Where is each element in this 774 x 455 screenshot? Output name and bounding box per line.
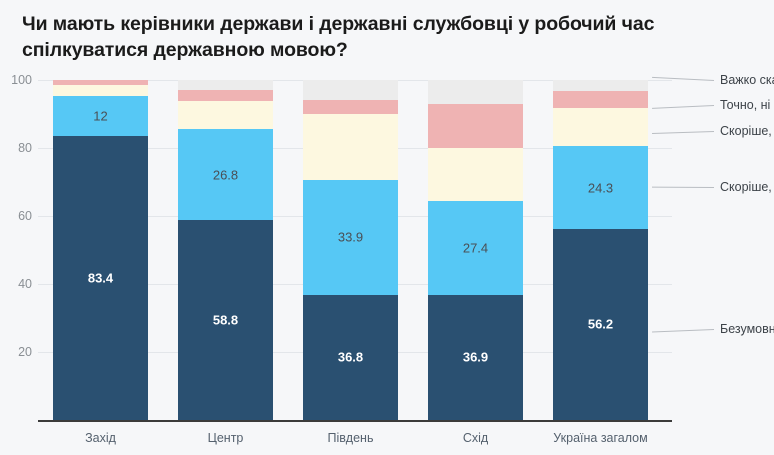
y-tick-label: 80	[0, 141, 32, 155]
x-axis-line	[38, 420, 672, 422]
y-tick-label: 40	[0, 277, 32, 291]
bar-segment[interactable]	[53, 96, 148, 137]
bar-segment[interactable]	[303, 100, 398, 114]
bar-group[interactable]: 36.833.9	[303, 80, 398, 420]
bar-group[interactable]: 83.412	[53, 80, 148, 420]
y-tick-label: 100	[0, 73, 32, 87]
legend-item-label[interactable]: Скоріше, так	[720, 180, 774, 194]
page-title: Чи мають керівники держави і державні сл…	[22, 11, 752, 63]
bar-segment[interactable]	[553, 80, 648, 91]
y-axis: 20406080100	[0, 80, 32, 420]
bar-group[interactable]: 58.826.8	[178, 80, 273, 420]
bar-segment[interactable]	[178, 101, 273, 129]
x-tick-label: Захід	[31, 431, 171, 445]
bar-segment[interactable]	[428, 148, 523, 201]
bar-segment[interactable]	[553, 146, 648, 229]
x-tick-label: Схід	[406, 431, 546, 445]
bar-segment[interactable]	[53, 136, 148, 420]
y-tick-label: 20	[0, 345, 32, 359]
bar-segment[interactable]	[303, 80, 398, 100]
bar-segment[interactable]	[428, 295, 523, 420]
legend-item-label[interactable]: Важко сказати	[720, 73, 774, 87]
bar-group[interactable]: 36.927.4	[428, 80, 523, 420]
bar-segment[interactable]	[428, 80, 523, 104]
plot-area: 83.41258.826.836.833.936.927.456.224.3	[38, 80, 672, 420]
bar-segment[interactable]	[53, 80, 148, 85]
x-tick-label: Україна загалом	[531, 431, 671, 445]
stacked-bar-chart: Чи мають керівники держави і державні сл…	[0, 0, 774, 455]
bar-segment[interactable]	[553, 108, 648, 146]
bar-segment[interactable]	[428, 104, 523, 148]
bar-segment[interactable]	[553, 91, 648, 108]
bar-segment[interactable]	[53, 85, 148, 96]
bar-segment[interactable]	[178, 129, 273, 220]
bar-segment[interactable]	[553, 229, 648, 420]
legend-item-label[interactable]: Точно, ні	[720, 98, 770, 112]
legend-item-label[interactable]: Скоріше, ні	[720, 124, 774, 138]
bar-segment[interactable]	[178, 80, 273, 90]
bar-segment[interactable]	[303, 180, 398, 295]
x-tick-label: Центр	[156, 431, 296, 445]
bar-segment[interactable]	[303, 295, 398, 420]
legend-item-label[interactable]: Безумовно, так	[720, 322, 774, 336]
bar-segment[interactable]	[178, 220, 273, 420]
x-tick-label: Південь	[281, 431, 421, 445]
bar-segment[interactable]	[303, 114, 398, 180]
bar-segment[interactable]	[178, 90, 273, 101]
bar-group[interactable]: 56.224.3	[553, 80, 648, 420]
bar-segment[interactable]	[428, 201, 523, 294]
y-tick-label: 60	[0, 209, 32, 223]
